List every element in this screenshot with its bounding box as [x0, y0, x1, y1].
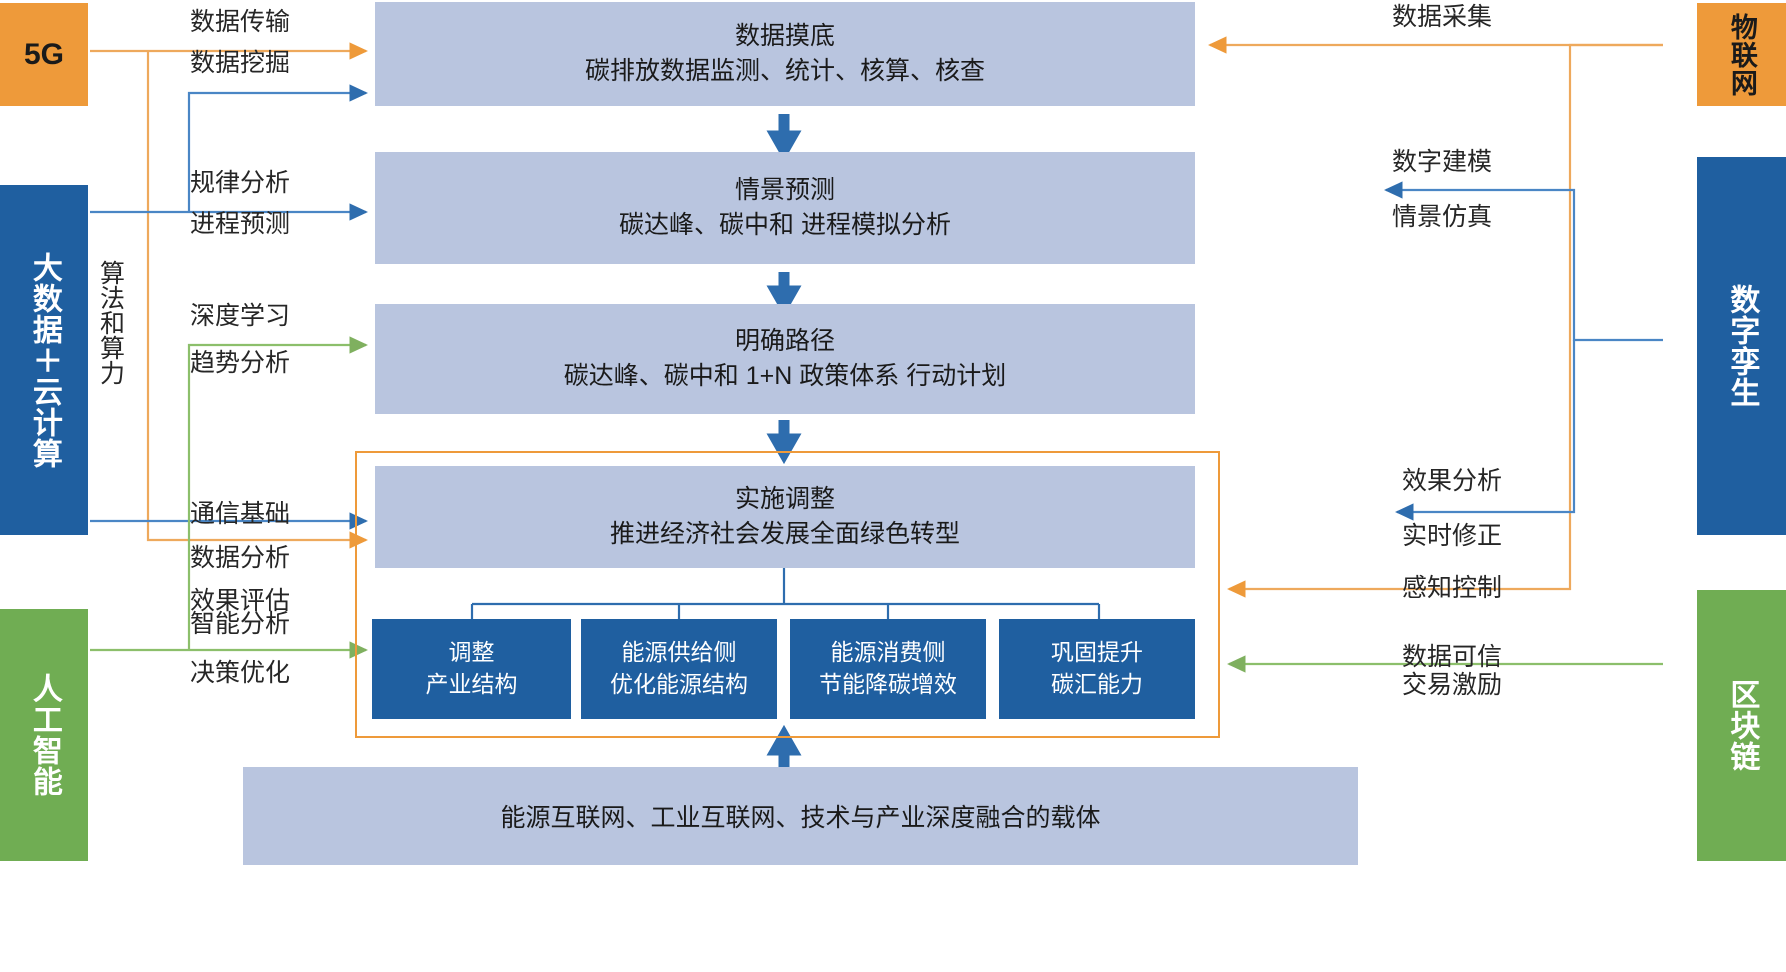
edge-label-trend-analysis: 趋势分析 — [190, 351, 290, 376]
tech-chip-blockchain-label: 区块链 — [1726, 679, 1758, 772]
edge-label-data-collection: 数据采集 — [1392, 5, 1492, 30]
edge-label-deep-learning: 深度学习 — [190, 304, 290, 329]
edge-label-effect-analysis: 效果分析 — [1402, 469, 1502, 494]
stage-title: 实施调整 — [735, 482, 835, 518]
action-card-line1: 调整 — [449, 637, 495, 669]
wire-5g-comm-base — [148, 51, 366, 540]
stage-box-scenario-forecast[interactable]: 情景预测 碳达峰、碳中和 进程模拟分析 — [375, 152, 1195, 264]
action-card-industry[interactable]: 调整 产业结构 — [372, 619, 571, 719]
stage-detail: 碳排放数据监测、统计、核算、核查 — [585, 54, 985, 90]
action-card-line1: 能源供给侧 — [622, 637, 737, 669]
edge-label-data-mining: 数据挖掘 — [190, 51, 290, 76]
footer-carrier-label: 能源互联网、工业互联网、技术与产业深度融合的载体 — [500, 798, 1100, 834]
action-card-carbon-sink[interactable]: 巩固提升 碳汇能力 — [999, 619, 1195, 719]
tech-chip-iot[interactable]: 物联网 — [1697, 3, 1786, 106]
stage-title: 明确路径 — [735, 324, 835, 360]
stage-box-clear-path[interactable]: 明确路径 碳达峰、碳中和 1+N 政策体系 行动计划 — [375, 304, 1195, 414]
flow-arrow-2 — [776, 272, 792, 305]
tech-chip-ai[interactable]: 人工智能 — [0, 609, 88, 861]
tech-chip-bigdata-cloud[interactable]: 大数据＋云计算 — [0, 185, 88, 535]
flow-arrow-3 — [776, 420, 792, 453]
stage-box-data-survey[interactable]: 数据摸底 碳排放数据监测、统计、核算、核查 — [375, 2, 1195, 106]
edge-label-comm-infrastructure: 通信基础 — [190, 502, 290, 527]
edge-label-digital-modeling: 数字建模 — [1392, 150, 1492, 175]
edge-label-decision-optimization: 决策优化 — [190, 661, 290, 686]
edge-label-smart-analysis: 智能分析 — [190, 612, 290, 637]
stage-detail: 推进经济社会发展全面绿色转型 — [610, 517, 960, 553]
action-card-line2: 产业结构 — [426, 669, 518, 701]
edge-label-trade-incentive: 交易激励 — [1402, 673, 1502, 698]
action-card-line1: 能源消费侧 — [831, 637, 946, 669]
stage-detail: 碳达峰、碳中和 进程模拟分析 — [619, 208, 951, 244]
edge-label-process-forecast: 进程预测 — [190, 212, 290, 237]
stage-detail: 碳达峰、碳中和 1+N 政策体系 行动计划 — [564, 359, 1006, 395]
action-card-line1: 巩固提升 — [1051, 637, 1143, 669]
tech-chip-iot-label: 物联网 — [1727, 13, 1756, 97]
flow-arrow-1 — [776, 114, 792, 150]
tech-chip-5g[interactable]: 5G — [0, 3, 88, 106]
action-card-energy-supply[interactable]: 能源供给侧 优化能源结构 — [581, 619, 777, 719]
footer-carrier-box[interactable]: 能源互联网、工业互联网、技术与产业深度融合的载体 — [243, 767, 1358, 865]
edge-label-sensing-control: 感知控制 — [1402, 576, 1502, 601]
tech-chip-blockchain[interactable]: 区块链 — [1697, 590, 1786, 861]
action-card-line2: 优化能源结构 — [610, 669, 748, 701]
tech-chip-ai-label: 人工智能 — [28, 673, 60, 797]
stage-title: 情景预测 — [735, 173, 835, 209]
action-card-energy-demand[interactable]: 能源消费侧 节能降碳增效 — [790, 619, 986, 719]
tech-chip-digital-twin[interactable]: 数字孪生 — [1697, 157, 1786, 535]
tech-chip-5g-label: 5G — [24, 39, 64, 71]
edge-label-data-transfer: 数据传输 — [190, 10, 290, 35]
edge-label-pattern-analysis: 规律分析 — [190, 171, 290, 196]
wire-iot-sensing-control — [1229, 45, 1663, 589]
tech-chip-digital-twin-label: 数字孪生 — [1726, 284, 1758, 408]
gutter-caption-algorithms: 算法和算力 — [95, 260, 126, 425]
edge-label-data-analysis: 数据分析 — [190, 546, 290, 571]
edge-label-scenario-simulation: 情景仿真 — [1392, 205, 1492, 230]
diagram-canvas: 5G 大数据＋云计算 人工智能 物联网 数字孪生 区块链 算法和算力 数据传输 … — [0, 0, 1786, 972]
tech-chip-bigdata-cloud-label: 大数据＋云计算 — [28, 252, 60, 469]
stage-title: 数据摸底 — [735, 19, 835, 55]
edge-label-trusted-data: 数据可信 — [1402, 645, 1502, 670]
edge-label-realtime-correction: 实时修正 — [1402, 524, 1502, 549]
action-card-line2: 节能降碳增效 — [819, 669, 957, 701]
action-card-line2: 碳汇能力 — [1051, 669, 1143, 701]
flow-arrow-up — [776, 736, 792, 770]
stage-box-implement-adjust[interactable]: 实施调整 推进经济社会发展全面绿色转型 — [375, 466, 1195, 568]
